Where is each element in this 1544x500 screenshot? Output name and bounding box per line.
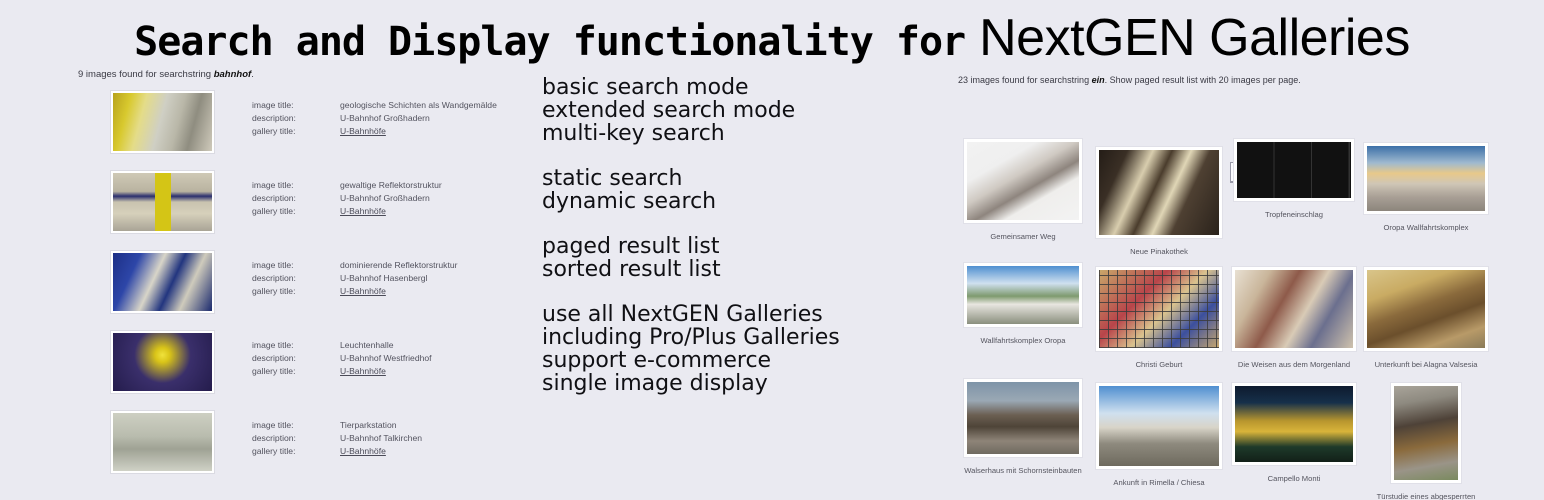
gallery-item-image — [967, 382, 1079, 454]
gallery-item-caption: Gemeinsamer Weg — [962, 232, 1084, 241]
gallery-item-caption: Oropa Wallfahrtskomplex — [1362, 223, 1490, 232]
result-meta: image title:Leuchtenhalle description:U-… — [252, 339, 432, 378]
result-meta: image title:geologische Schichten als Wa… — [252, 99, 497, 138]
result-thumbnail-image — [113, 253, 212, 311]
gallery-item-caption: Wallfahrtskomplex Oropa — [962, 336, 1084, 345]
result-row[interactable]: image title:Leuchtenhalle description:U-… — [0, 330, 520, 402]
gallery-item[interactable]: Die Weisen aus dem Morgenland — [1230, 266, 1358, 369]
gallery-item-image — [1367, 146, 1485, 211]
gallery-title-link[interactable]: U-Bahnhöfe — [340, 366, 386, 376]
gallery-item[interactable]: Tropfeneinschlag — [1232, 138, 1356, 219]
result-row[interactable]: image title:dominierende Reflektorstrukt… — [0, 250, 520, 322]
gallery-item-image — [1099, 150, 1219, 235]
result-meta: image title:gewaltige Reflektorstruktur … — [252, 179, 442, 218]
right-gallery-panel: 23 images found for searchstring ein. Sh… — [950, 64, 1544, 500]
gallery-item-image — [1367, 270, 1485, 348]
feature-item: single image display — [542, 372, 942, 395]
label-description: description: — [252, 352, 340, 365]
feature-item: static search — [542, 167, 942, 190]
gallery-item-frame[interactable] — [1095, 146, 1223, 239]
result-thumbnail[interactable] — [110, 410, 215, 474]
value-description: U-Bahnhof Großhadern — [340, 113, 430, 123]
feature-item: use all NextGEN Galleries — [542, 303, 942, 326]
label-image-title: image title: — [252, 339, 340, 352]
gallery-item-image — [1099, 386, 1219, 466]
result-thumbnail[interactable] — [110, 90, 215, 154]
gallery-item-image — [1235, 386, 1353, 462]
gallery-item-image — [1235, 270, 1353, 348]
result-thumbnail-image — [113, 93, 212, 151]
feature-item: multi-key search — [542, 122, 942, 145]
gallery-item-frame[interactable] — [963, 378, 1083, 458]
result-row[interactable]: image title:Tierparkstation description:… — [0, 410, 520, 482]
gallery-item[interactable]: Neue Pinakothek — [1094, 146, 1224, 256]
gallery-item-frame[interactable] — [1390, 382, 1462, 484]
thumbnail-row: Walserhaus mit Schornsteinbauten Ankunft… — [958, 378, 1544, 498]
gallery-item[interactable]: Gemeinsamer Weg — [962, 138, 1084, 241]
label-image-title: image title: — [252, 99, 340, 112]
right-found-text: 23 images found for searchstring ein. Sh… — [958, 75, 1301, 85]
feature-item: support e-commerce — [542, 349, 942, 372]
gallery-item[interactable]: Unterkunft bei Alagna Valsesia — [1362, 266, 1490, 369]
label-description: description: — [252, 192, 340, 205]
gallery-item[interactable]: Ankunft in Rimella / Chiesa — [1094, 382, 1224, 487]
value-description: U-Bahnhof Westfriedhof — [340, 353, 432, 363]
feature-item: dynamic search — [542, 190, 942, 213]
gallery-item-image — [967, 266, 1079, 324]
gallery-item[interactable]: Wallfahrtskomplex Oropa — [962, 262, 1084, 345]
thumbnail-grid: Gemeinsamer Weg Neue Pinakothek Tropfene… — [958, 138, 1544, 498]
left-found-prefix: 9 images found for searchstring — [78, 69, 211, 80]
gallery-item-caption: Unterkunft bei Alagna Valsesia — [1362, 360, 1490, 369]
result-meta: image title:dominierende Reflektorstrukt… — [252, 259, 458, 298]
right-found-keyword: ein — [1092, 75, 1105, 85]
gallery-item-frame[interactable] — [1363, 142, 1489, 215]
gallery-item-frame[interactable] — [1231, 382, 1357, 466]
value-image-title: gewaltige Reflektorstruktur — [340, 180, 442, 190]
feature-list: basic search mode extended search mode m… — [542, 76, 942, 417]
label-gallery-title: gallery title: — [252, 285, 340, 298]
gallery-title-link[interactable]: U-Bahnhöfe — [340, 206, 386, 216]
label-image-title: image title: — [252, 259, 340, 272]
label-gallery-title: gallery title: — [252, 205, 340, 218]
gallery-item-frame[interactable] — [1363, 266, 1489, 352]
gallery-item-caption: Türstudie eines abgesperrten Walserhause… — [1370, 492, 1482, 500]
result-thumbnail-image — [113, 413, 212, 471]
label-image-title: image title: — [252, 419, 340, 432]
feature-item: basic search mode — [542, 76, 942, 99]
gallery-item-frame[interactable] — [1233, 138, 1355, 202]
gallery-item[interactable]: Türstudie eines abgesperrten Walserhause… — [1370, 382, 1482, 500]
left-found-keyword: bahnhof — [214, 69, 251, 80]
gallery-item[interactable]: Oropa Wallfahrtskomplex — [1362, 142, 1490, 232]
result-thumbnail-image — [113, 173, 212, 231]
gallery-item-frame[interactable] — [963, 138, 1083, 224]
left-found-suffix: . — [251, 69, 254, 80]
thumbnail-row: Gemeinsamer Weg Neue Pinakothek Tropfene… — [958, 138, 1544, 262]
gallery-item-caption: Neue Pinakothek — [1094, 247, 1224, 256]
gallery-title-link[interactable]: U-Bahnhöfe — [340, 286, 386, 296]
gallery-item-frame[interactable] — [1231, 266, 1357, 352]
page-title: Search and Display functionality forNext… — [0, 8, 1544, 68]
gallery-item-caption: Die Weisen aus dem Morgenland — [1230, 360, 1358, 369]
gallery-item-frame[interactable] — [1095, 266, 1223, 352]
label-description: description: — [252, 432, 340, 445]
value-image-title: Tierparkstation — [340, 420, 397, 430]
label-description: description: — [252, 112, 340, 125]
value-description: U-Bahnhof Hasenbergl — [340, 273, 427, 283]
label-image-title: image title: — [252, 179, 340, 192]
feature-item: sorted result list — [542, 258, 942, 281]
page-title-brand: NextGEN Galleries — [979, 9, 1410, 67]
label-gallery-title: gallery title: — [252, 125, 340, 138]
gallery-item-image — [1099, 270, 1219, 348]
gallery-title-link[interactable]: U-Bahnhöfe — [340, 126, 386, 136]
gallery-item-frame[interactable] — [963, 262, 1083, 328]
value-description: U-Bahnhof Großhadern — [340, 193, 430, 203]
feature-item: including Pro/Plus Galleries — [542, 326, 942, 349]
value-image-title: Leuchtenhalle — [340, 340, 394, 350]
gallery-item-image — [967, 142, 1079, 220]
page-title-main: Search and Display functionality for — [134, 19, 965, 65]
label-gallery-title: gallery title: — [252, 445, 340, 458]
gallery-item[interactable]: Walserhaus mit Schornsteinbauten — [962, 378, 1084, 475]
gallery-item[interactable]: Campello Monti — [1230, 382, 1358, 483]
gallery-item-caption: Tropfeneinschlag — [1232, 210, 1356, 219]
right-found-suffix: . Show paged result list with 20 images … — [1105, 75, 1301, 85]
gallery-item-frame[interactable] — [1095, 382, 1223, 470]
right-found-prefix: 23 images found for searchstring — [958, 75, 1089, 85]
feature-item: extended search mode — [542, 99, 942, 122]
feature-group: use all NextGEN Galleries including Pro/… — [542, 303, 942, 395]
result-row[interactable]: image title:geologische Schichten als Wa… — [0, 90, 520, 162]
result-thumbnail-image — [113, 333, 212, 391]
result-meta: image title:Tierparkstation description:… — [252, 419, 422, 458]
label-gallery-title: gallery title: — [252, 365, 340, 378]
result-thumbnail[interactable] — [110, 330, 215, 394]
feature-group: static search dynamic search — [542, 167, 942, 213]
label-description: description: — [252, 272, 340, 285]
thumbnail-row: Wallfahrtskomplex Oropa Christi Geburt D… — [958, 262, 1544, 378]
gallery-item[interactable]: Christi Geburt — [1094, 266, 1224, 369]
gallery-item-caption: Christi Geburt — [1094, 360, 1224, 369]
result-thumbnail[interactable] — [110, 170, 215, 234]
left-result-panel: 9 images found for searchstring bahnhof.… — [0, 64, 520, 500]
gallery-item-image — [1237, 142, 1351, 198]
feature-group: paged result list sorted result list — [542, 235, 942, 281]
feature-item: paged result list — [542, 235, 942, 258]
result-row[interactable]: image title:gewaltige Reflektorstruktur … — [0, 170, 520, 242]
value-description: U-Bahnhof Talkirchen — [340, 433, 422, 443]
gallery-title-link[interactable]: U-Bahnhöfe — [340, 446, 386, 456]
gallery-item-caption: Ankunft in Rimella / Chiesa — [1094, 478, 1224, 487]
gallery-item-caption: Walserhaus mit Schornsteinbauten — [962, 466, 1084, 475]
value-image-title: dominierende Reflektorstruktur — [340, 260, 458, 270]
gallery-item-caption: Campello Monti — [1230, 474, 1358, 483]
value-image-title: geologische Schichten als Wandgemälde — [340, 100, 497, 110]
left-found-text: 9 images found for searchstring bahnhof. — [78, 69, 254, 80]
page-root: Search and Display functionality forNext… — [0, 0, 1544, 500]
result-thumbnail[interactable] — [110, 250, 215, 314]
gallery-item-image — [1394, 386, 1458, 480]
feature-group: basic search mode extended search mode m… — [542, 76, 942, 145]
